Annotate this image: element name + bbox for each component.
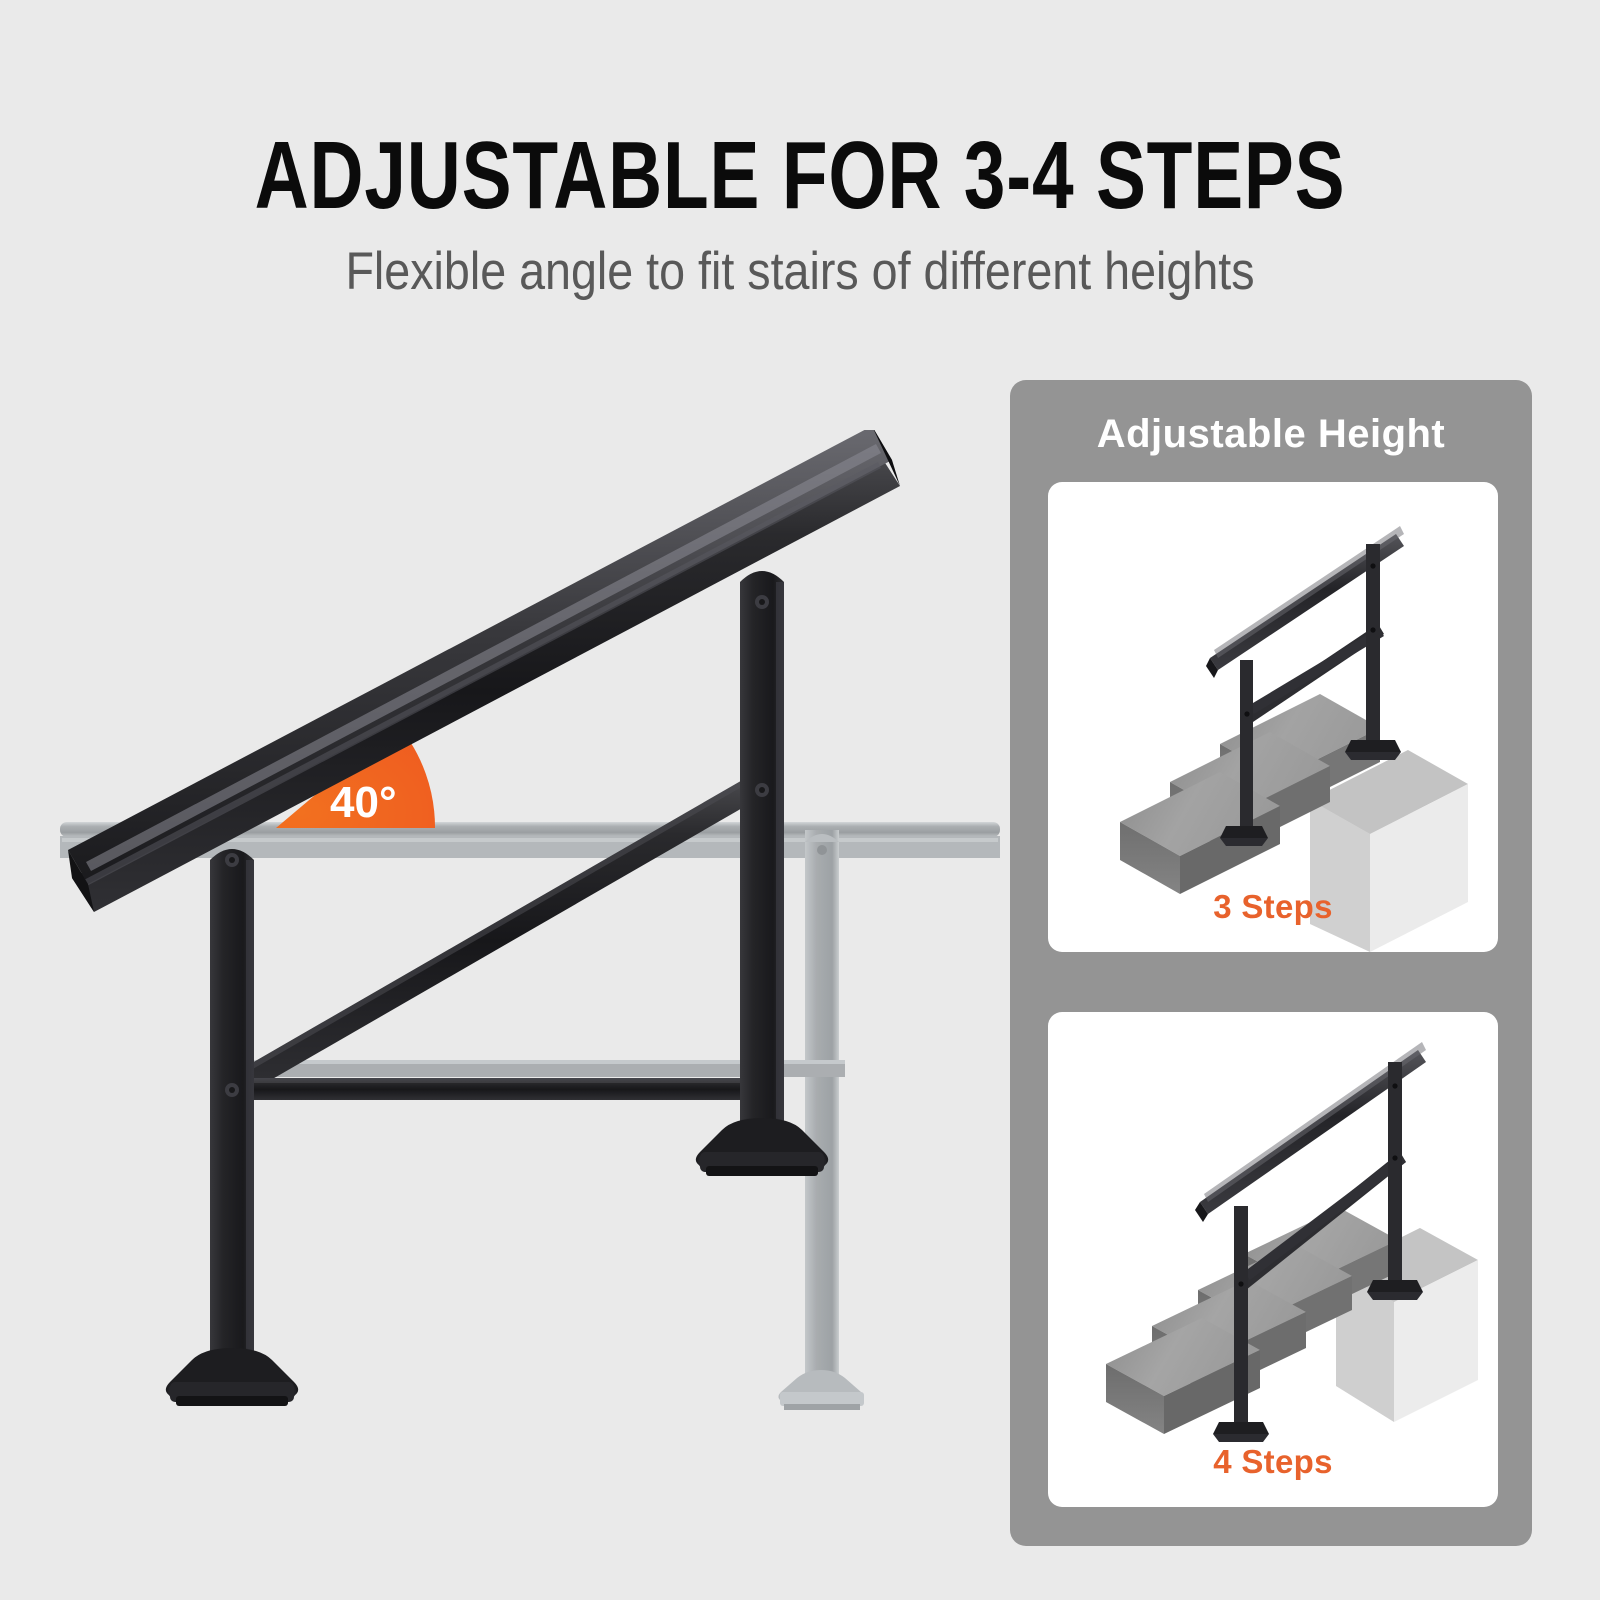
black-railing-angled: [68, 430, 900, 1406]
panel-title: Adjustable Height: [1010, 412, 1532, 457]
stairs-4-illustration: [1048, 1012, 1498, 1507]
left-post: [166, 849, 298, 1406]
card-4-steps: 4 Steps: [1048, 1012, 1498, 1507]
stairs-3-illustration: [1048, 482, 1498, 952]
card-label-3-steps: 3 Steps: [1048, 888, 1498, 926]
card-3-steps: 3 Steps: [1048, 482, 1498, 952]
product-marketing-image: ADJUSTABLE FOR 3-4 STEPS Flexible angle …: [0, 0, 1600, 1600]
page-subtitle: Flexible angle to fit stairs of differen…: [96, 243, 1504, 301]
lower-rail: [218, 1078, 778, 1100]
card-label-4-steps: 4 Steps: [1048, 1443, 1498, 1481]
hero-product-illustration: [40, 430, 1020, 1510]
page-title: ADJUSTABLE FOR 3-4 STEPS: [176, 128, 1424, 224]
